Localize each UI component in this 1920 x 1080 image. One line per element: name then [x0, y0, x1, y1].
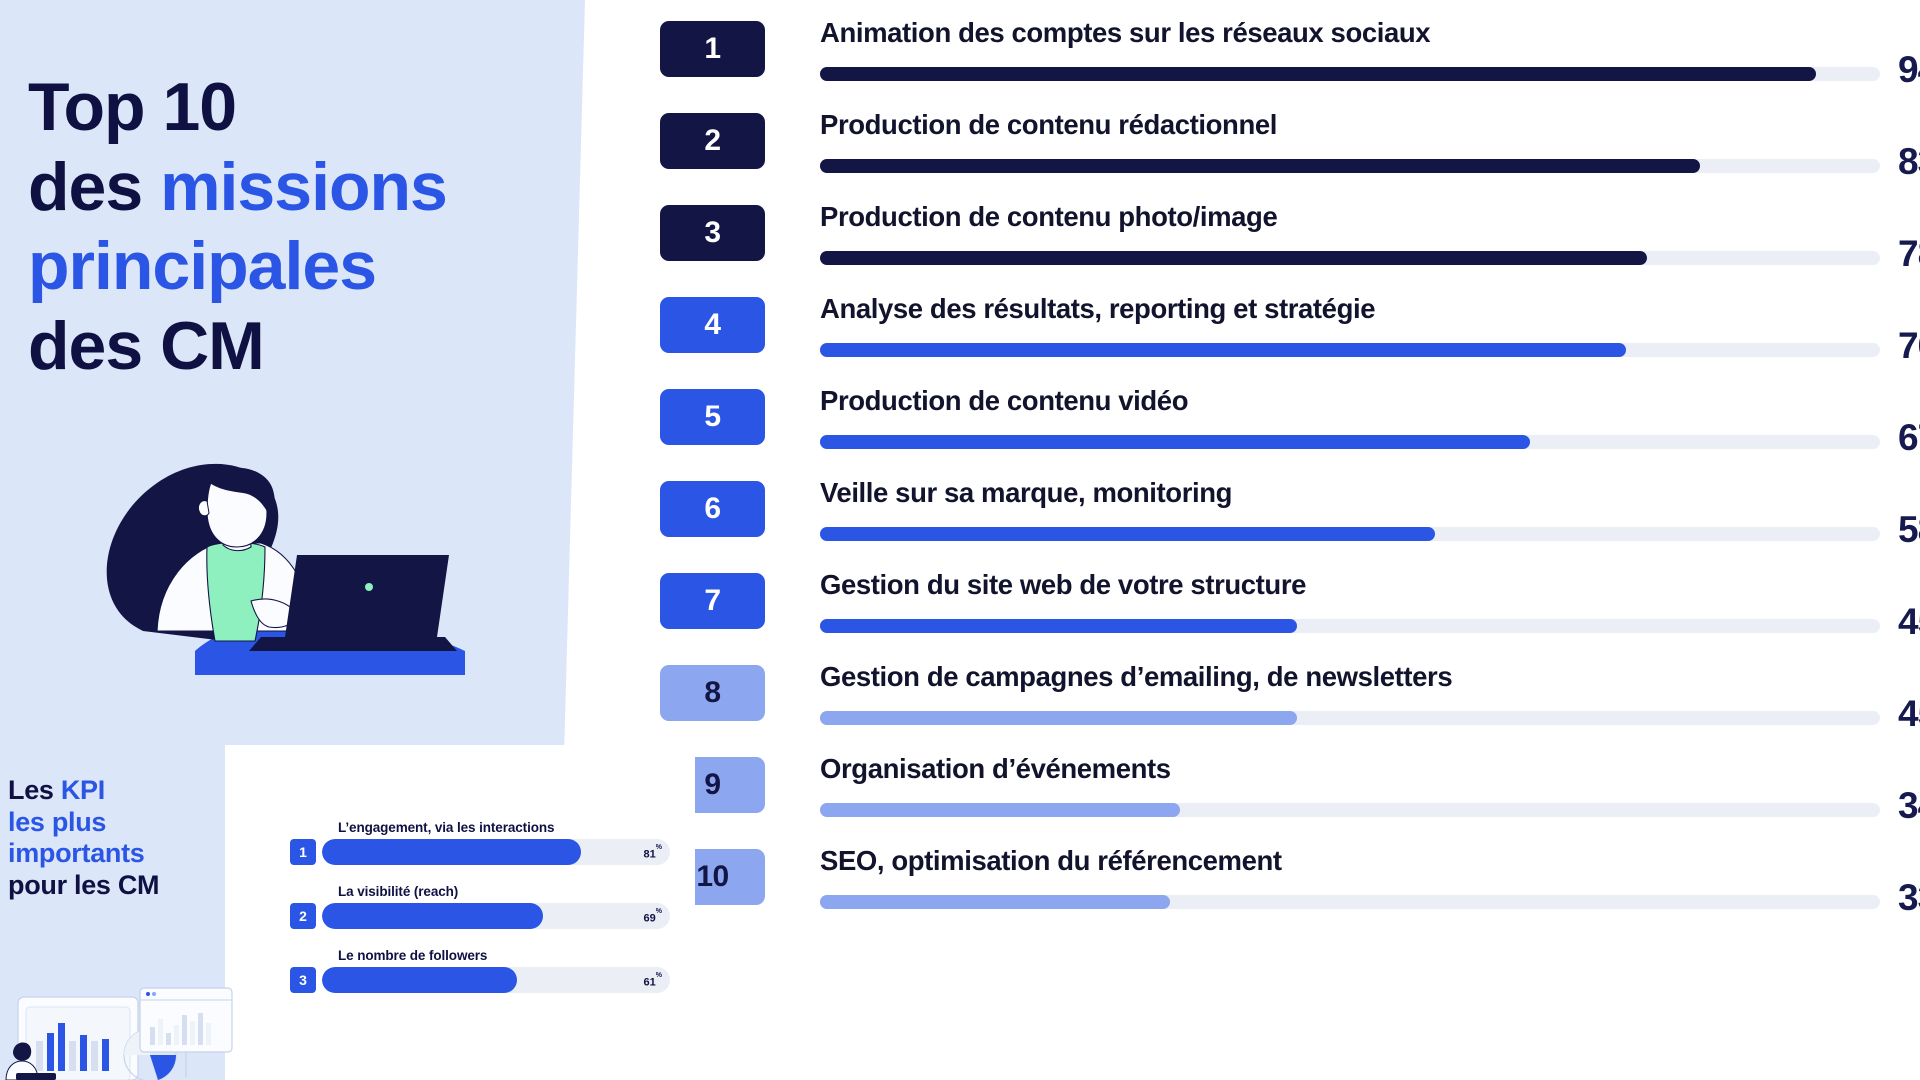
- percent-number: 94: [1898, 49, 1920, 90]
- kpi-percent-suffix: %: [656, 972, 662, 979]
- kpi-percent-suffix: %: [656, 844, 662, 851]
- progress-fill: [820, 159, 1700, 173]
- kpi-rank-badge: 1: [290, 839, 316, 865]
- kpi-label: L’engagement, via les interactions: [338, 820, 670, 835]
- progress-fill: [820, 435, 1530, 449]
- rank-badge: 6: [660, 481, 765, 537]
- progress-track: [820, 343, 1880, 357]
- rank-badge-number: 5: [704, 400, 720, 434]
- page-title: Top 10 des missions principales des CM: [28, 68, 548, 386]
- woman-at-laptop-illustration: [85, 455, 505, 675]
- progress-fill: [820, 895, 1170, 909]
- percent-number: 34: [1898, 785, 1920, 826]
- kpi-percent-number: 61: [644, 977, 656, 989]
- mission-label: Analyse des résultats, reporting et stra…: [820, 293, 1375, 325]
- ranking-row: 3Production de contenu photo/image78%: [660, 205, 1920, 289]
- ranking-row: 8Gestion de campagnes d’emailing, de new…: [660, 665, 1920, 749]
- kpi-rank-badge: 2: [290, 903, 316, 929]
- progress-track: [820, 803, 1880, 817]
- progress-track: [820, 435, 1880, 449]
- rank-badge-number: 2: [704, 124, 720, 158]
- percent-number: 78: [1898, 233, 1920, 274]
- rank-badge-number: 10: [696, 860, 728, 894]
- percent-number: 45: [1898, 601, 1920, 642]
- progress-track: [820, 711, 1880, 725]
- ranking-row: 5Production de contenu vidéo67%: [660, 389, 1920, 473]
- rank-badge-number: 1: [704, 32, 720, 66]
- mission-label: Production de contenu vidéo: [820, 385, 1188, 417]
- kpi-row: L’engagement, via les interactions181%: [290, 820, 670, 865]
- title-line-2: des missions: [28, 148, 548, 228]
- ranking-row: 2Production de contenu rédactionnel83%: [660, 113, 1920, 197]
- kpi-rank-number: 1: [299, 844, 307, 860]
- progress-track: [820, 895, 1880, 909]
- rank-badge: 4: [660, 297, 765, 353]
- percent-number: 83: [1898, 141, 1920, 182]
- kpi-label: Le nombre de followers: [338, 948, 670, 963]
- missions-ranking-list: 1Animation des comptes sur les réseaux s…: [660, 0, 1920, 1080]
- title-line-1-text: Top 10: [28, 69, 236, 145]
- percent-number: 33: [1898, 877, 1920, 918]
- progress-fill: [820, 67, 1816, 81]
- kpi-progress-track: 61%: [322, 967, 670, 993]
- ranking-row: 10SEO, optimisation du référencement33%: [660, 849, 1920, 933]
- kpi-progress-fill: [322, 903, 543, 929]
- ranking-row: 6Veille sur sa marque, monitoring58%: [660, 481, 1920, 565]
- progress-fill: [820, 527, 1435, 541]
- mission-label: Gestion de campagnes d’emailing, de news…: [820, 661, 1452, 693]
- kpi-rank-number: 3: [299, 972, 307, 988]
- rank-badge: 7: [660, 573, 765, 629]
- progress-fill: [820, 251, 1647, 265]
- kpi-progress-track: 69%: [322, 903, 670, 929]
- percent-value: 45%: [1898, 693, 1920, 735]
- progress-fill: [820, 711, 1297, 725]
- percent-value: 45%: [1898, 601, 1920, 643]
- kpi-heading-line-1-plain: Les: [8, 775, 61, 805]
- kpi-percent-number: 81: [644, 849, 656, 861]
- mission-label: Production de contenu photo/image: [820, 201, 1277, 233]
- progress-track: [820, 67, 1880, 81]
- title-line-2-accent: missions: [160, 149, 447, 225]
- kpi-heading-line-2: les plus: [8, 807, 159, 839]
- percent-value: 34%: [1898, 785, 1920, 827]
- percent-value: 94%: [1898, 49, 1920, 91]
- mission-label: Production de contenu rédactionnel: [820, 109, 1277, 141]
- kpi-heading-line-4: pour les CM: [8, 870, 159, 902]
- kpi-percent-value: 61%: [644, 967, 662, 993]
- kpi-percent-suffix: %: [656, 908, 662, 915]
- progress-fill: [820, 343, 1626, 357]
- kpi-heading: Les KPI les plus importants pour les CM: [8, 775, 159, 901]
- rank-badge-number: 6: [704, 492, 720, 526]
- percent-number: 67: [1898, 417, 1920, 458]
- kpi-rank-number: 2: [299, 908, 307, 924]
- progress-track: [820, 527, 1880, 541]
- progress-fill: [820, 619, 1297, 633]
- percent-number: 76: [1898, 325, 1920, 366]
- kpi-percent-value: 81%: [644, 839, 662, 865]
- kpi-rank-badge: 3: [290, 967, 316, 993]
- progress-track: [820, 159, 1880, 173]
- kpi-heading-line-3: importants: [8, 838, 159, 870]
- kpi-list: L’engagement, via les interactions181%La…: [290, 820, 670, 1012]
- kpi-percent-value: 69%: [644, 903, 662, 929]
- rank-badge: 1: [660, 21, 765, 77]
- percent-value: 76%: [1898, 325, 1920, 367]
- kpi-progress-fill: [322, 967, 517, 993]
- mission-label: Veille sur sa marque, monitoring: [820, 477, 1232, 509]
- mission-label: SEO, optimisation du référencement: [820, 845, 1282, 877]
- rank-badge-number: 4: [704, 308, 720, 342]
- rank-badge: 5: [660, 389, 765, 445]
- rank-badge-number: 9: [704, 768, 720, 802]
- rank-badge: 3: [660, 205, 765, 261]
- title-line-4-plain: des CM: [28, 308, 264, 384]
- rank-badge-number: 7: [704, 584, 720, 618]
- title-line-2-plain: des: [28, 149, 160, 225]
- percent-value: 78%: [1898, 233, 1920, 275]
- analytics-charts-illustration: [0, 955, 250, 1080]
- rank-badge-number: 8: [704, 676, 720, 710]
- kpi-row: Le nombre de followers361%: [290, 948, 670, 993]
- percent-number: 45: [1898, 693, 1920, 734]
- kpi-progress-fill: [322, 839, 581, 865]
- kpi-heading-line-1-accent: KPI: [61, 775, 105, 805]
- progress-track: [820, 619, 1880, 633]
- ranking-row: 1Animation des comptes sur les réseaux s…: [660, 21, 1920, 105]
- kpi-heading-line-1: Les KPI: [8, 775, 159, 807]
- mission-label: Gestion du site web de votre structure: [820, 569, 1306, 601]
- title-line-3: principales: [28, 227, 548, 307]
- ranking-row: 7Gestion du site web de votre structure4…: [660, 573, 1920, 657]
- kpi-row: La visibilité (reach)269%: [290, 884, 670, 929]
- percent-number: 58: [1898, 509, 1920, 550]
- kpi-label: La visibilité (reach): [338, 884, 670, 899]
- rank-badge: 8: [660, 665, 765, 721]
- kpi-progress-track: 81%: [322, 839, 670, 865]
- ranking-row: 4Analyse des résultats, reporting et str…: [660, 297, 1920, 381]
- ranking-row: 9Organisation d’événements34%: [660, 757, 1920, 841]
- percent-value: 58%: [1898, 509, 1920, 551]
- title-line-3-accent: principales: [28, 228, 376, 304]
- percent-value: 83%: [1898, 141, 1920, 183]
- progress-track: [820, 251, 1880, 265]
- title-line-4: des CM: [28, 307, 548, 387]
- title-line-1: Top 10: [28, 68, 548, 148]
- rank-badge-number: 3: [704, 216, 720, 250]
- percent-value: 67%: [1898, 417, 1920, 459]
- mission-label: Organisation d’événements: [820, 753, 1171, 785]
- mission-label: Animation des comptes sur les réseaux so…: [820, 17, 1430, 49]
- percent-value: 33%: [1898, 877, 1920, 919]
- kpi-percent-number: 69: [644, 913, 656, 925]
- rank-badge: 2: [660, 113, 765, 169]
- progress-fill: [820, 803, 1180, 817]
